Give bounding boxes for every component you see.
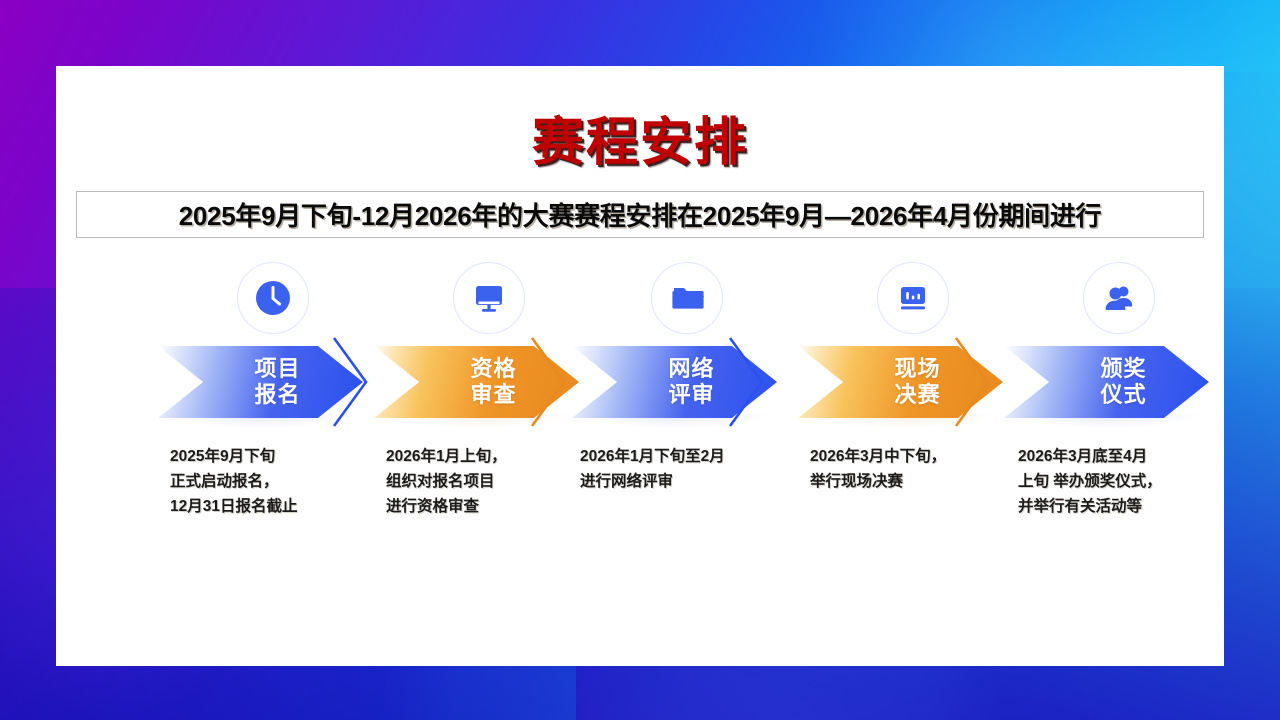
step-arrow-label: 现场 决赛	[894, 356, 940, 408]
desc-line: 上旬 举办颁奖仪式，	[1018, 469, 1243, 494]
desc-line: 2025年9月下旬	[170, 444, 395, 469]
step-arrow-label: 项目 报名	[254, 356, 300, 408]
step-icon-bubble	[651, 262, 723, 334]
presentation-chart-icon	[892, 277, 934, 319]
step-label-line2: 评审	[668, 382, 714, 408]
step-icon-bubble	[877, 262, 949, 334]
desc-line: 12月31日报名截止	[170, 494, 395, 519]
step-icon-bubble	[237, 262, 309, 334]
step-label-line2: 决赛	[894, 382, 940, 408]
step-description: 2026年3月中下旬， 举行现场决赛	[810, 444, 1035, 494]
separator-1	[328, 332, 372, 432]
step-arrow-banner[interactable]: 颁奖 仪式	[1004, 346, 1209, 418]
step-arrow-label: 资格 审查	[470, 356, 516, 408]
desc-line: 2026年3月底至4月	[1018, 444, 1243, 469]
step-label-line1: 现场	[894, 356, 940, 382]
timeline-step-5[interactable]: 颁奖 仪式 2026年3月底至4月 上旬 举办颁奖仪式， 并举行有关活动等	[1004, 262, 1234, 582]
separator-4	[950, 332, 994, 432]
desc-line: 2026年3月中下旬，	[810, 444, 1035, 469]
step-arrow-label: 网络 评审	[668, 356, 714, 408]
step-label-line1: 项目	[254, 356, 300, 382]
slide-background: 赛程安排 2025年9月下旬-12月2026年的大赛赛程安排在2025年9月—2…	[0, 0, 1280, 720]
desc-line: 并举行有关活动等	[1018, 494, 1243, 519]
step-icon-bubble	[453, 262, 525, 334]
monitor-icon	[468, 277, 510, 319]
step-label-line2: 报名	[254, 382, 300, 408]
step-description: 2026年3月底至4月 上旬 举办颁奖仪式， 并举行有关活动等	[1018, 444, 1243, 519]
desc-line: 正式启动报名，	[170, 469, 395, 494]
folder-icon	[666, 277, 708, 319]
separator-2	[526, 332, 570, 432]
step-description: 2026年1月下旬至2月 进行网络评审	[580, 444, 805, 494]
people-icon	[1098, 277, 1140, 319]
step-label-line1: 网络	[668, 356, 714, 382]
desc-line: 进行网络评审	[580, 469, 805, 494]
subtitle-banner: 2025年9月下旬-12月2026年的大赛赛程安排在2025年9月—2026年4…	[76, 191, 1204, 238]
step-label-line1: 颁奖	[1100, 356, 1146, 382]
separator-3	[724, 332, 768, 432]
step-icon-bubble	[1083, 262, 1155, 334]
step-arrow-label: 颁奖 仪式	[1100, 356, 1146, 408]
page-title: 赛程安排	[56, 100, 1224, 175]
step-label-line2: 审查	[470, 382, 516, 408]
desc-line: 2026年1月下旬至2月	[580, 444, 805, 469]
step-label-line2: 仪式	[1100, 382, 1146, 408]
desc-line: 举行现场决赛	[810, 469, 1035, 494]
timeline: 项目 报名 2025年9月下旬 正式启动报名， 12月31日报名截止	[56, 262, 1224, 582]
subtitle-text: 2025年9月下旬-12月2026年的大赛赛程安排在2025年9月—2026年4…	[179, 196, 1102, 233]
content-card: 赛程安排 2025年9月下旬-12月2026年的大赛赛程安排在2025年9月—2…	[56, 66, 1224, 666]
clock-icon	[251, 276, 295, 320]
step-description: 2025年9月下旬 正式启动报名， 12月31日报名截止	[170, 444, 395, 519]
step-label-line1: 资格	[470, 356, 516, 382]
